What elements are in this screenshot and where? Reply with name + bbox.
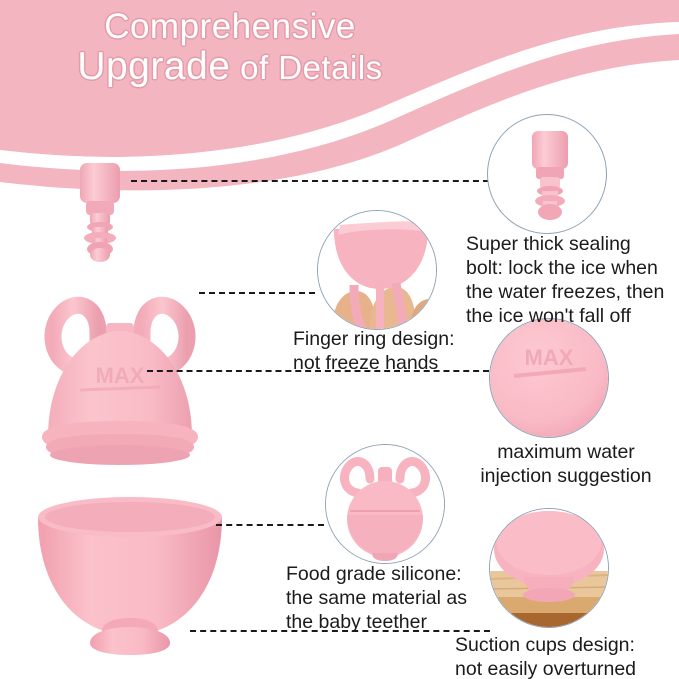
max-mark-closeup: MAX xyxy=(489,318,609,438)
connector-line-finger-ring xyxy=(199,292,315,294)
suction-cup-closeup xyxy=(489,508,609,628)
suction-cup-art xyxy=(490,509,608,627)
caption-suction-cup: Suction cups design: not easily overturn… xyxy=(455,634,675,679)
finger-ring-closeup-art xyxy=(318,211,436,329)
caption-max: maximum water injection suggestion xyxy=(459,441,673,489)
sealing-bolt-closeup-art xyxy=(488,115,606,233)
assembled-product-closeup xyxy=(325,444,445,564)
lid-max-text: MAX xyxy=(96,363,145,388)
sealing-bolt-part xyxy=(80,163,120,262)
product-lid-illustration: MAX xyxy=(28,155,253,470)
caption-sealing-bolt: Super thick sealing bolt: lock the ice w… xyxy=(466,233,678,329)
sealing-bolt-closeup xyxy=(487,114,607,234)
finger-ring-closeup xyxy=(317,210,437,330)
max-mark-closeup-art: MAX xyxy=(490,319,608,437)
caption-finger-ring: Finger ring design: not freeze hands xyxy=(293,328,493,376)
infographic-canvas: Comprehensive Upgrade of Details xyxy=(0,0,679,679)
assembled-product-art xyxy=(326,445,444,563)
connector-line-sealing-bolt xyxy=(131,180,489,182)
connector-line-silicone xyxy=(216,524,324,526)
max-circle-text: MAX xyxy=(525,345,574,370)
product-bowl-illustration xyxy=(28,485,243,660)
bowl-suction-base xyxy=(90,627,170,655)
caption-food-grade-silicone: Food grade silicone: the same material a… xyxy=(286,563,496,635)
